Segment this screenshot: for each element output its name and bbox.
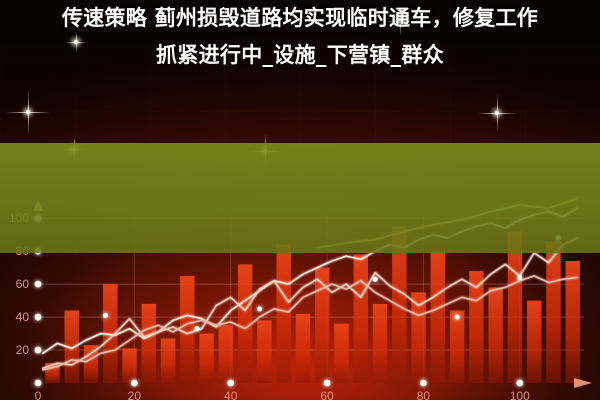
bar	[276, 245, 290, 383]
point-marker	[257, 306, 262, 311]
bar	[354, 254, 368, 383]
y-tick-label: 20	[16, 343, 30, 357]
bar	[199, 334, 213, 383]
x-tick-label: 60	[320, 389, 334, 400]
bar	[508, 231, 522, 383]
y-axis-tick-dot	[35, 347, 42, 354]
x-tick-label: 20	[128, 389, 142, 400]
y-axis-tick-dot	[35, 314, 42, 321]
point-marker	[455, 314, 460, 319]
y-tick-label: 40	[16, 310, 30, 324]
point-marker	[517, 275, 522, 280]
x-tick-label: 0	[35, 389, 42, 400]
bar	[161, 339, 175, 384]
bar	[122, 348, 136, 383]
x-axis-tick-dot	[324, 380, 331, 387]
x-tick-label: 40	[224, 389, 238, 400]
screenshot-root: 02040608010020406080100 传速策略 蓟州损毁道路均实现临时…	[0, 0, 600, 400]
bar	[488, 287, 502, 383]
x-axis-arrow-icon	[574, 378, 592, 388]
title-line-1: 传速策略 蓟州损毁道路均实现临时通车，修复工作	[0, 0, 600, 37]
bar	[296, 314, 310, 383]
x-axis-tick-dot	[35, 380, 42, 387]
bar	[373, 304, 387, 383]
point-marker	[373, 277, 378, 282]
title-overlay-band	[0, 143, 600, 253]
y-axis-tick-dot	[35, 281, 42, 288]
x-axis-tick-dot	[131, 380, 138, 387]
bar	[431, 251, 445, 383]
bar	[142, 304, 156, 383]
x-axis-tick-dot	[420, 380, 427, 387]
point-marker	[194, 326, 199, 331]
bar	[334, 324, 348, 383]
title-line-2: 抓紧进行中_设施_下营镇_群众	[0, 37, 600, 74]
x-axis-tick-dot	[516, 380, 523, 387]
y-tick-label: 60	[16, 277, 30, 291]
x-axis-tick-dot	[227, 380, 234, 387]
x-tick-label: 100	[510, 389, 530, 400]
point-marker	[103, 313, 108, 318]
bar	[257, 320, 271, 383]
bar	[180, 276, 194, 383]
bar	[527, 301, 541, 383]
bar	[450, 310, 464, 383]
bar	[219, 325, 233, 383]
x-tick-label: 80	[417, 389, 431, 400]
bar	[315, 268, 329, 383]
